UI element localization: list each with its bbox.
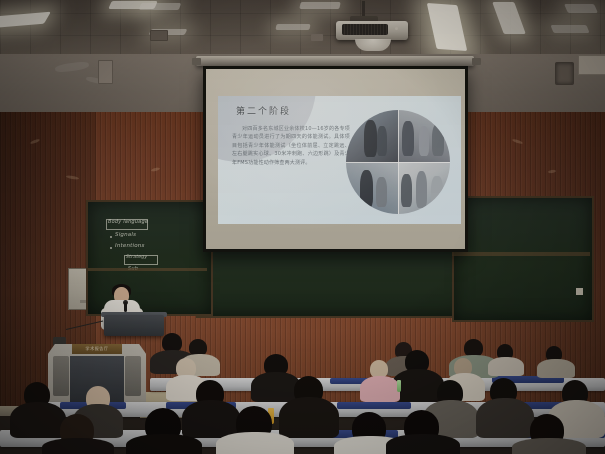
screen-roller-cap: [472, 58, 481, 65]
chalk-note-signals: Signals: [115, 232, 136, 238]
wall-speaker: [555, 62, 574, 85]
audience-shoulders: [10, 402, 66, 438]
water-bottle: [397, 380, 401, 392]
microphone-body: [124, 302, 127, 312]
audience-shoulders: [360, 376, 400, 402]
audience-shoulders: [512, 438, 586, 454]
chalkboard-right: [452, 196, 594, 322]
slide-photo-collage: [346, 110, 450, 214]
photo-quadrant: [346, 110, 398, 162]
ceiling-light-panel: [299, 2, 340, 9]
slide-title: 第二个阶段: [236, 104, 291, 117]
audience-shoulders: [488, 357, 524, 376]
slide-body-text: 对四百多名东城区业余体校10—16岁的各专项青少年运动员进行了为期四天的体能测试…: [232, 125, 350, 167]
audience-shoulders: [386, 434, 460, 454]
chalk-rail: [88, 268, 207, 271]
ceiling-light-panel: [564, 4, 598, 13]
audience-shoulders: [216, 432, 294, 454]
upper-window-frame: [578, 55, 605, 75]
seat-cushion: [337, 402, 411, 409]
ceiling-light-panel: [139, 3, 182, 10]
chalk-note-strategy: Strategy: [126, 255, 147, 260]
screen-roller-housing: [196, 56, 474, 66]
audience-shoulders: [537, 359, 575, 378]
photo-quadrant: [398, 162, 450, 214]
collage-divider: [346, 162, 450, 163]
photo-quadrant: [398, 110, 450, 162]
presentation-slide: 第二个阶段 对四百多名东城区业余体校10—16岁的各专项青少年运动员进行了为期四…: [218, 96, 461, 224]
audience-shoulders: [279, 397, 339, 438]
audience-area: [0, 330, 605, 454]
photo-quadrant: [346, 162, 398, 214]
chalk-piece: [576, 288, 583, 295]
screen-roller-cap: [192, 58, 201, 65]
projection-screen-surface: 第二个阶段 对四百多名东城区业余体校10—16岁的各专项青少年运动员进行了为期四…: [206, 69, 465, 249]
audience-shoulders: [476, 398, 534, 438]
projector-vent-grille: [342, 24, 388, 35]
lecture-hall-photo: Body language Signals Intentions Strateg…: [0, 0, 605, 454]
audience-shoulders: [126, 434, 202, 454]
chalk-rail: [452, 252, 590, 256]
audience-shoulders: [182, 400, 240, 438]
chalk-note-body-language: Body language: [108, 219, 148, 225]
ceiling-vent: [150, 30, 168, 41]
projector-status-led: [395, 27, 398, 30]
ceiling-light-panel: [275, 24, 310, 30]
ceiling-sensor: [311, 34, 323, 41]
wall-junction-box: [98, 60, 113, 84]
audience-shoulders: [42, 438, 114, 454]
ceiling-light-panel: [550, 25, 589, 33]
chalk-note-intentions: Intentions: [115, 243, 145, 249]
